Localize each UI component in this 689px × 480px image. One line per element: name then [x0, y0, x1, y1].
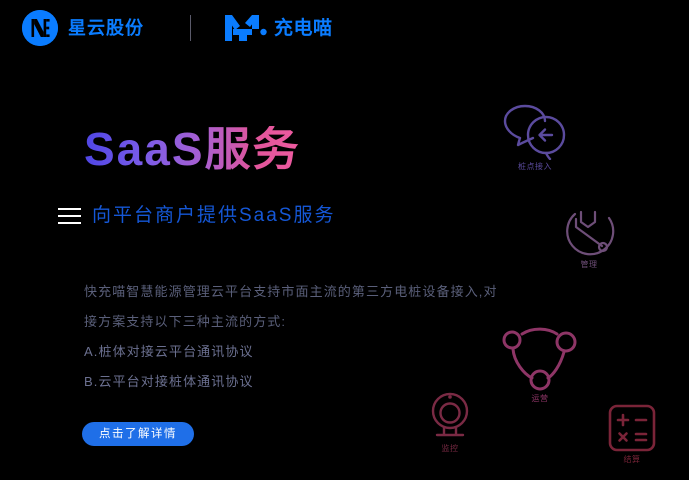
- learn-more-button[interactable]: 点击了解详情: [82, 422, 194, 446]
- body-bullet-a: A.桩体对接云平台通讯协议: [84, 337, 584, 367]
- decoration-tool: 管理: [562, 208, 616, 269]
- decoration-calc-label: 结算: [624, 456, 641, 464]
- brand-secondary-label: 充电喵: [274, 19, 333, 38]
- decoration-camera: 监控: [424, 390, 476, 453]
- site-header: 星云股份 充电喵: [0, 0, 689, 56]
- body-bullet-b: B.云平台对接桩体通讯协议: [84, 367, 584, 397]
- brand-primary[interactable]: 星云股份: [22, 10, 144, 46]
- chat-bubble-arrow-icon: [500, 104, 570, 160]
- decoration-calc: 结算: [607, 403, 657, 464]
- hamburger-icon: [58, 208, 81, 224]
- ne-circle-logo-icon: [22, 10, 58, 46]
- page-subtitle: 向平台商户提供SaaS服务: [92, 206, 335, 225]
- decoration-chat: 桩点接入: [500, 104, 570, 171]
- calculator-icon: [607, 403, 657, 453]
- body-copy: 快充喵智慧能源管理云平台支持市面主流的第三方电桩设备接入,对 接方案支持以下三种…: [84, 277, 584, 397]
- header-divider: [190, 15, 191, 41]
- body-paragraph-line: 接方案支持以下三种主流的方式:: [84, 307, 584, 337]
- page-title: SaaS服务: [84, 126, 301, 172]
- cat-face-logo-icon: [225, 15, 267, 41]
- decoration-tool-label: 管理: [581, 261, 598, 269]
- page-root: 星云股份 充电喵 SaaS服务: [0, 0, 689, 480]
- brand-primary-label: 星云股份: [68, 19, 144, 37]
- wrench-icon: [562, 208, 616, 258]
- brand-secondary[interactable]: 充电喵: [225, 15, 333, 41]
- decoration-chat-label: 桩点接入: [518, 163, 552, 171]
- subtitle-row: 向平台商户提供SaaS服务: [58, 206, 335, 225]
- decoration-camera-label: 监控: [442, 445, 459, 453]
- monitor-camera-icon: [424, 390, 476, 442]
- body-paragraph-line: 快充喵智慧能源管理云平台支持市面主流的第三方电桩设备接入,对: [84, 277, 584, 307]
